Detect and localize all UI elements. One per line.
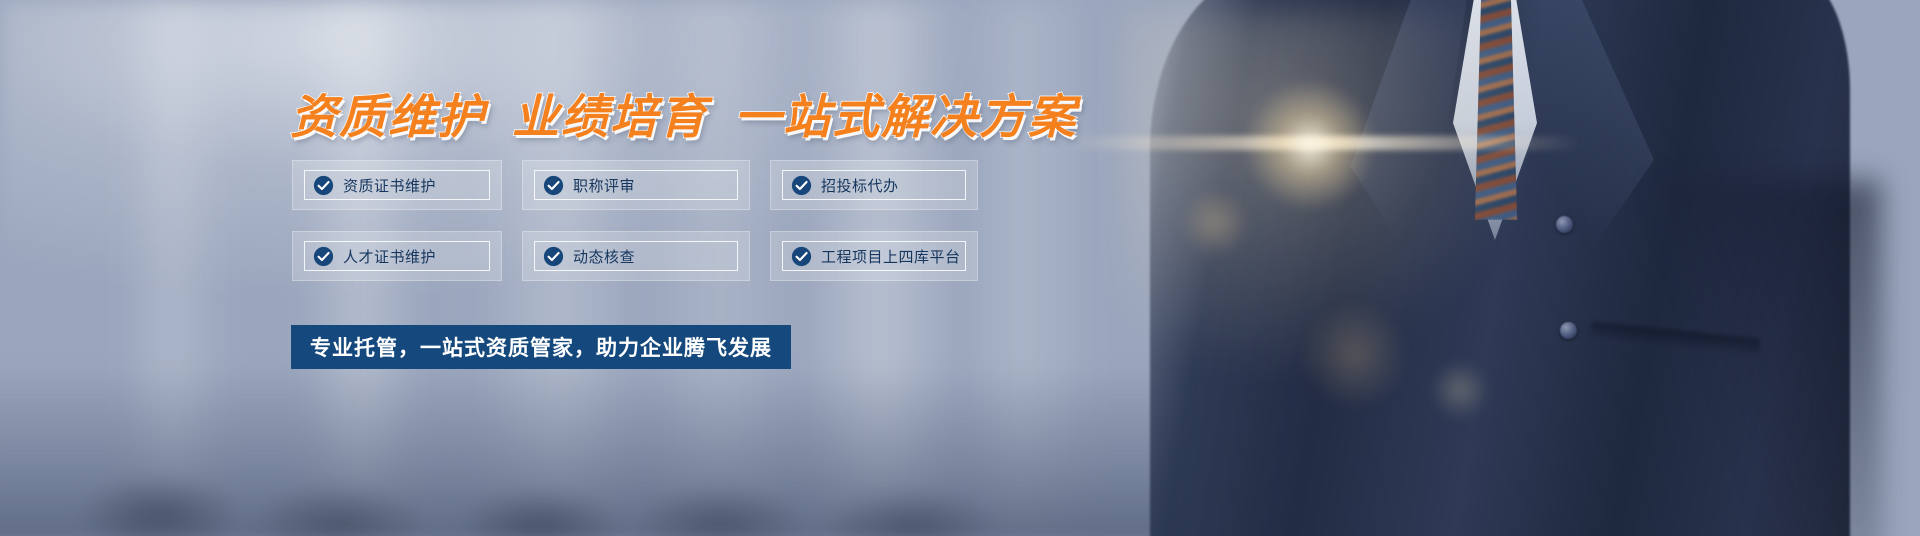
lens-flare-ghost-a: [1180, 188, 1250, 258]
arm-shadow: [1620, 180, 1880, 536]
banner-content: 资质维护业绩培育一站式解决方案 资质证书维护: [0, 0, 1100, 536]
feature-label: 资质证书维护: [343, 175, 436, 196]
jacket-button-bottom: [1560, 322, 1577, 339]
lens-flare-ghost-b: [1300, 300, 1410, 410]
check-circle-icon: [791, 246, 812, 267]
feature-label: 工程项目上四库平台: [821, 246, 961, 267]
feature-label: 职称评审: [573, 175, 635, 196]
feature-row: 动态核查: [531, 246, 635, 267]
feature-row: 资质证书维护: [301, 175, 436, 196]
check-circle-icon: [313, 175, 334, 196]
check-circle-icon: [791, 175, 812, 196]
feature-item-1[interactable]: 职称评审: [522, 160, 750, 210]
feature-item-4[interactable]: 动态核查: [522, 231, 750, 281]
feature-item-5[interactable]: 工程项目上四库平台: [770, 231, 978, 281]
feature-item-0[interactable]: 资质证书维护: [292, 160, 502, 210]
feature-item-3[interactable]: 人才证书维护: [292, 231, 502, 281]
check-circle-icon: [543, 246, 564, 267]
lens-flare-ghost-c: [1430, 360, 1490, 420]
slogan-text: 专业托管，一站式资质管家，助力企业腾飞发展: [310, 332, 772, 362]
feature-grid: 资质证书维护 职称评审: [292, 160, 978, 281]
headline-part-2: 业绩培育: [512, 90, 708, 145]
feature-row: 工程项目上四库平台: [779, 246, 961, 267]
feature-row: 招投标代办: [779, 175, 899, 196]
slogan-bar: 专业托管，一站式资质管家，助力企业腾飞发展: [291, 325, 791, 369]
hero-banner: 资质维护业绩培育一站式解决方案 资质证书维护: [0, 0, 1920, 536]
headline-part-1: 资质维护: [290, 90, 486, 145]
banner-headline: 资质维护业绩培育一站式解决方案: [290, 78, 1077, 147]
headline-part-3: 一站式解决方案: [734, 90, 1077, 145]
feature-label: 招投标代办: [821, 175, 899, 196]
check-circle-icon: [313, 246, 334, 267]
check-circle-icon: [543, 175, 564, 196]
feature-row: 人才证书维护: [301, 246, 436, 267]
feature-label: 人才证书维护: [343, 246, 436, 267]
jacket-button-top: [1556, 216, 1573, 233]
feature-row: 职称评审: [531, 175, 635, 196]
feature-label: 动态核查: [573, 246, 635, 267]
lens-flare-core: [1245, 80, 1375, 210]
feature-item-2[interactable]: 招投标代办: [770, 160, 978, 210]
